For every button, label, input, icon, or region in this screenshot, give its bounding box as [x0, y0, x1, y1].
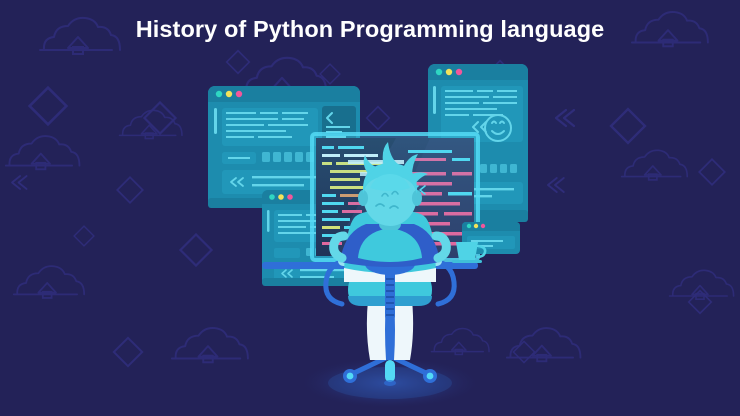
chair-wheel-shadow [384, 380, 396, 386]
window-dot-cyan [436, 69, 442, 75]
illustration-canvas: History of Python Programming language [0, 0, 740, 416]
developer-illustration [0, 0, 740, 416]
window-dot-yellow [446, 69, 452, 75]
window-dot-pink [287, 194, 293, 200]
window-dot-cyan [467, 224, 471, 228]
window-dot-yellow [278, 194, 284, 200]
window-dot-pink [456, 69, 462, 75]
window-dot-cyan [216, 91, 222, 97]
window-dot-yellow [474, 224, 478, 228]
window-dot-cyan [269, 194, 275, 200]
window-dot-pink [236, 91, 242, 97]
window-dot-pink [481, 224, 485, 228]
page-title: History of Python Programming language [0, 16, 740, 43]
window-dot-yellow [226, 91, 232, 97]
